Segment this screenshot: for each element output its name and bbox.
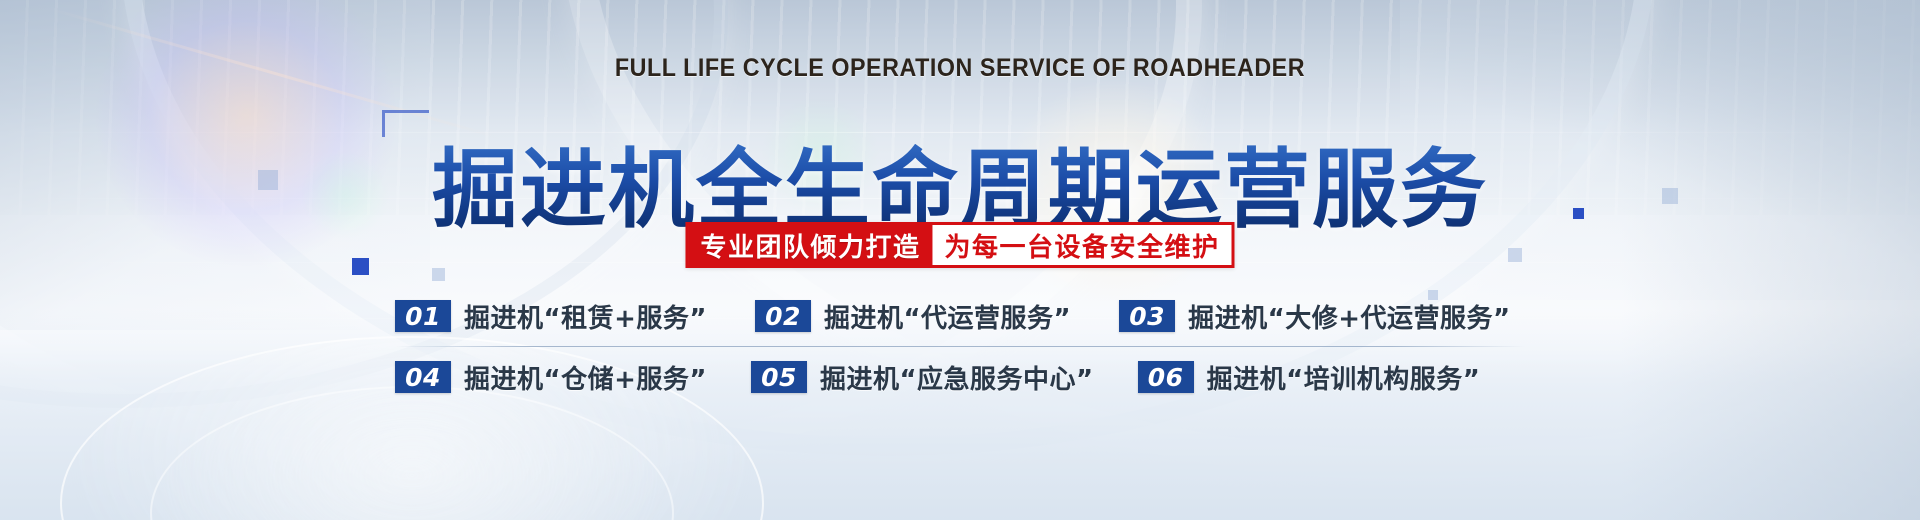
service-label: 掘进机“培训机构服务”	[1207, 359, 1481, 396]
service-item-04[interactable]: 04 掘进机“仓储+服务”	[395, 359, 707, 396]
service-item-06[interactable]: 06 掘进机“培训机构服务”	[1138, 359, 1481, 396]
service-item-02[interactable]: 02 掘进机“代运营服务”	[755, 298, 1071, 335]
service-label: 掘进机“大修+代运营服务”	[1188, 298, 1510, 335]
service-label: 掘进机“租赁+服务”	[464, 298, 707, 335]
service-label: 掘进机“代运营服务”	[824, 298, 1071, 335]
english-subtitle: FULL LIFE CYCLE OPERATION SERVICE OF ROA…	[67, 54, 1853, 83]
service-item-01[interactable]: 01 掘进机“租赁+服务”	[395, 298, 707, 335]
service-label: 掘进机“仓储+服务”	[464, 359, 707, 396]
service-number-badge: 02	[755, 300, 811, 332]
service-number-badge: 03	[1119, 300, 1175, 332]
service-number-badge: 04	[395, 361, 451, 393]
service-number-badge: 01	[395, 300, 451, 332]
slogan-secondary: 为每一台设备安全维护	[933, 225, 1232, 265]
service-item-05[interactable]: 05 掘进机“应急服务中心”	[751, 359, 1094, 396]
service-row-bottom: 04 掘进机“仓储+服务” 05 掘进机“应急服务中心” 06 掘进机“培训机构…	[395, 347, 1525, 407]
promo-banner: FULL LIFE CYCLE OPERATION SERVICE OF ROA…	[0, 0, 1920, 520]
service-label: 掘进机“应急服务中心”	[820, 359, 1094, 396]
slogan-bar: 专业团队倾力打造 为每一台设备安全维护	[685, 222, 1234, 268]
service-row-top: 01 掘进机“租赁+服务” 02 掘进机“代运营服务” 03 掘进机“大修+代运…	[395, 286, 1525, 346]
service-list: 01 掘进机“租赁+服务” 02 掘进机“代运营服务” 03 掘进机“大修+代运…	[395, 286, 1525, 407]
service-item-03[interactable]: 03 掘进机“大修+代运营服务”	[1119, 298, 1510, 335]
service-number-badge: 05	[751, 361, 807, 393]
slogan-primary: 专业团队倾力打造	[688, 225, 932, 265]
banner-content: FULL LIFE CYCLE OPERATION SERVICE OF ROA…	[0, 0, 1920, 520]
service-number-badge: 06	[1138, 361, 1194, 393]
